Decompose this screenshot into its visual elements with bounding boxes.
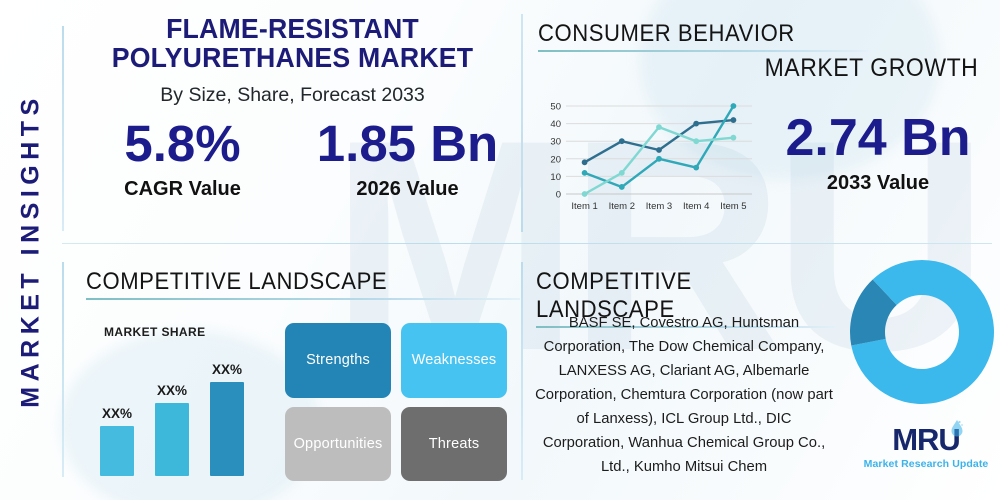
y-axis-tick-label: 50 <box>550 102 561 113</box>
bar-item: XX% <box>155 383 189 476</box>
bar-item: XX% <box>100 406 134 476</box>
title-block: FLAME-RESISTANT POLYURETHANES MARKET By … <box>70 14 515 107</box>
data-point <box>619 170 625 176</box>
kpi-cagr: 5.8% CAGR Value <box>70 118 295 201</box>
swot-box-opportunities[interactable]: Opportunities <box>285 407 391 482</box>
line-series <box>585 106 734 187</box>
kpi-2033-label: 2033 Value <box>760 172 996 195</box>
logo-tagline: Market Research Update <box>856 458 996 470</box>
section-heading-rule <box>86 298 520 300</box>
swot-grid: StrengthsWeaknessesOpportunitiesThreats <box>285 323 507 481</box>
divider-vertical-bottom-middle <box>521 262 523 480</box>
page-title: FLAME-RESISTANT POLYURETHANES MARKET <box>77 14 509 72</box>
bar <box>100 426 134 476</box>
divider-vertical-bottom-left <box>62 262 64 477</box>
data-point <box>582 159 588 165</box>
kpi-cagr-label: CAGR Value <box>70 178 295 201</box>
divider-horizontal <box>62 243 992 244</box>
page-subtitle: By Size, Share, Forecast 2033 <box>70 84 515 107</box>
data-point <box>731 103 737 109</box>
x-axis-tick-label: Item 5 <box>720 201 746 212</box>
section-heading-market-growth: MARKET GROWTH <box>764 54 978 83</box>
logo-mark: MRU <box>892 424 960 455</box>
kpi-2033-value: 2.74 Bn <box>760 112 996 164</box>
water-drop-icon <box>950 419 964 439</box>
market-share-donut-chart <box>848 258 996 406</box>
x-axis-tick-label: Item 2 <box>609 201 635 212</box>
x-axis-tick-label: Item 1 <box>571 201 597 212</box>
y-axis-tick-label: 30 <box>550 137 561 148</box>
bar-value-label: XX% <box>155 383 189 398</box>
data-point <box>656 156 662 162</box>
brand-logo: MRU Market Research Update <box>856 424 996 470</box>
y-axis-tick-label: 40 <box>550 119 561 130</box>
kpi-2026-label: 2026 Value <box>295 178 520 201</box>
section-heading-competitive-landscape-left-text: COMPETITIVE LANDSCAPE <box>86 268 485 296</box>
company-list: BASF SE, Covestro AG, Huntsman Corporati… <box>534 312 834 480</box>
section-heading-rule <box>538 50 868 52</box>
donut-chart-svg <box>848 258 996 406</box>
bar-value-label: XX% <box>210 362 244 377</box>
swot-box-threats[interactable]: Threats <box>401 407 507 482</box>
market-share-label: MARKET SHARE <box>104 325 205 339</box>
line-chart-svg: 01020304050Item 1Item 2Item 3Item 4Item … <box>536 98 758 216</box>
market-share-bar-chart: XX%XX%XX% <box>100 340 260 476</box>
x-axis-tick-label: Item 4 <box>683 201 709 212</box>
data-point <box>619 184 625 190</box>
infographic-canvas: MRU MARKET INSIGHTS FLAME-RESISTANT POLY… <box>0 0 1000 500</box>
swot-box-weaknesses[interactable]: Weaknesses <box>401 323 507 398</box>
side-label: MARKET INSIGHTS <box>0 0 62 500</box>
data-point <box>656 147 662 153</box>
section-heading-competitive-landscape-left: COMPETITIVE LANDSCAPE <box>86 268 520 300</box>
data-point <box>582 170 588 176</box>
bar <box>155 403 189 476</box>
data-point <box>693 138 699 144</box>
section-heading-consumer-behavior-text: CONSUMER BEHAVIOR <box>538 20 842 48</box>
kpi-2026-value: 1.85 Bn <box>295 118 520 169</box>
x-axis-tick-label: Item 3 <box>646 201 672 212</box>
data-point <box>693 165 699 171</box>
y-axis-tick-label: 10 <box>550 172 561 183</box>
data-point <box>619 138 625 144</box>
bar <box>210 382 244 476</box>
bar-value-label: XX% <box>100 406 134 421</box>
kpi-row: 5.8% CAGR Value 1.85 Bn 2026 Value <box>70 118 520 201</box>
consumer-behavior-line-chart: 01020304050Item 1Item 2Item 3Item 4Item … <box>536 98 758 216</box>
divider-vertical-top-middle <box>521 14 523 232</box>
data-point <box>582 191 588 197</box>
y-axis-tick-label: 20 <box>550 154 561 165</box>
data-point <box>693 121 699 127</box>
swot-box-strengths[interactable]: Strengths <box>285 323 391 398</box>
kpi-2026: 1.85 Bn 2026 Value <box>295 118 520 201</box>
section-heading-consumer-behavior: CONSUMER BEHAVIOR <box>538 20 868 52</box>
divider-vertical-top-left <box>62 26 64 231</box>
kpi-2033: 2.74 Bn 2033 Value <box>760 112 996 195</box>
data-point <box>731 135 737 141</box>
side-label-text: MARKET INSIGHTS <box>17 93 46 407</box>
bar-item: XX% <box>210 362 244 476</box>
kpi-cagr-value: 5.8% <box>70 118 295 169</box>
y-axis-tick-label: 0 <box>556 190 561 201</box>
data-point <box>731 117 737 123</box>
data-point <box>656 124 662 130</box>
